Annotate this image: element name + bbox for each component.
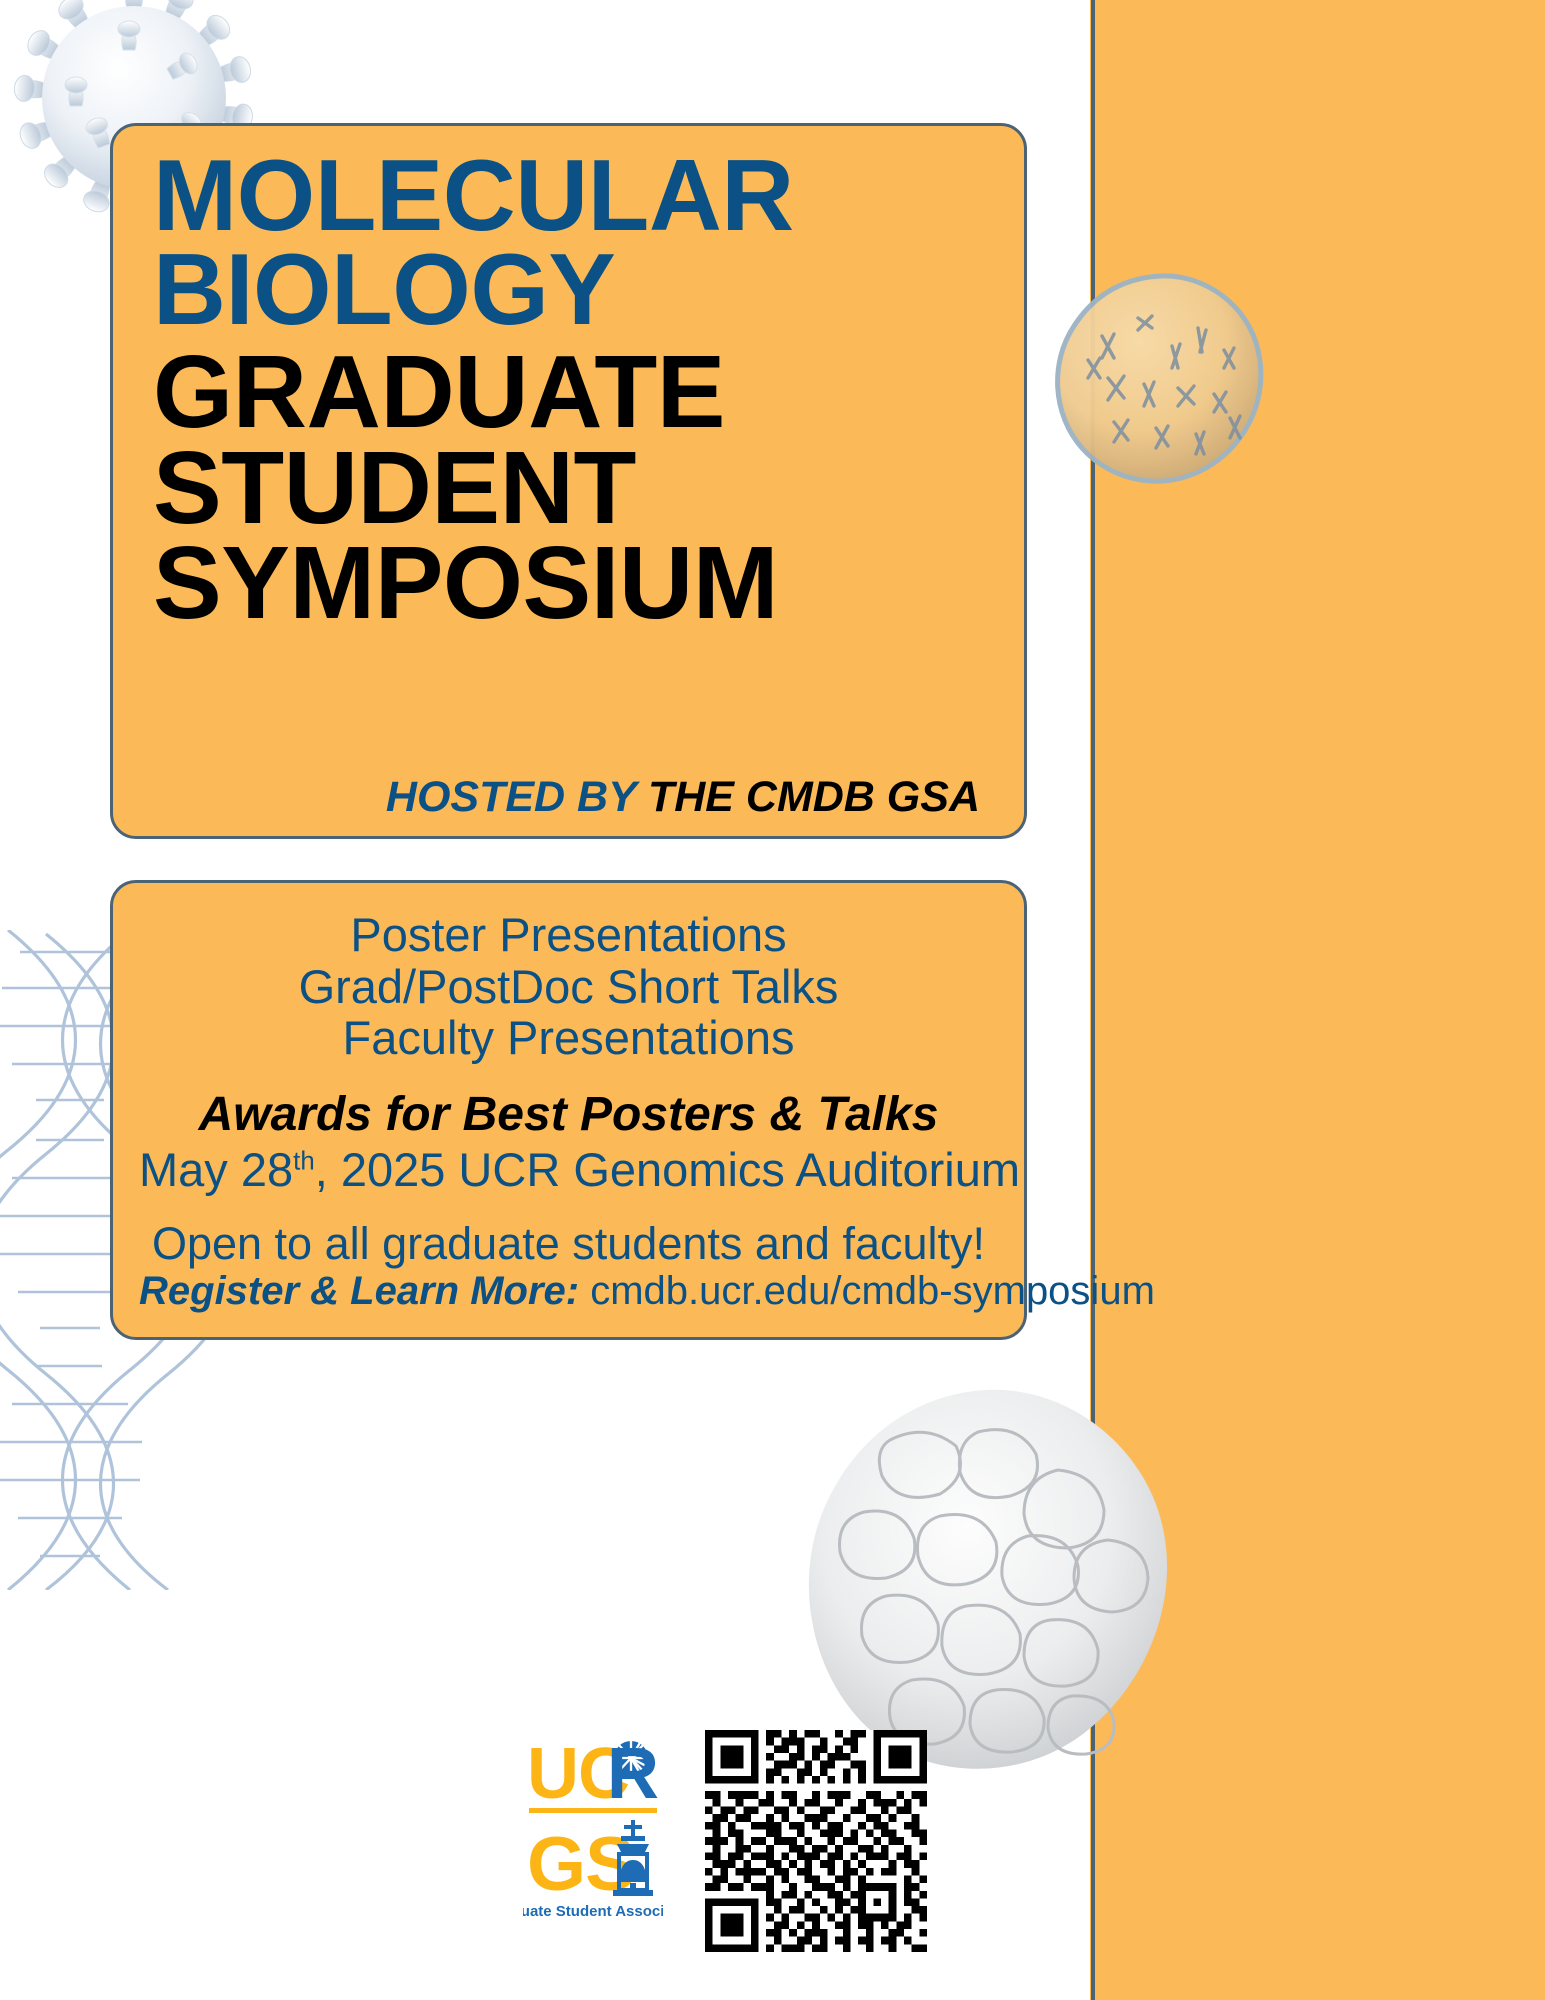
ucr-logo-r-text: R: [607, 1734, 659, 1814]
open-to-line: Open to all graduate students and facult…: [139, 1219, 998, 1269]
details-content: Poster Presentations Grad/PostDoc Short …: [139, 909, 998, 1317]
title-line-5: SYMPOSIUM: [153, 535, 998, 631]
ucr-gsa-tagline: Graduate Student Association: [523, 1903, 663, 1920]
spacer-1: [139, 1064, 998, 1086]
date-venue-line: May 28th, 2025 UCR Genomics Auditorium: [139, 1144, 998, 1196]
title-line-3: GRADUATE: [153, 344, 998, 440]
date-ordinal: th: [293, 1147, 315, 1175]
date-rest: , 2025 UCR Genomics Auditorium: [315, 1143, 1020, 1196]
hosted-by-line: HOSTED BY THE CMDB GSA: [386, 773, 980, 822]
details-card: Poster Presentations Grad/PostDoc Short …: [110, 880, 1027, 1340]
stripe-divider-line: [1091, 0, 1095, 2000]
ucr-gsa-logo: UC R: [523, 1732, 663, 1944]
ucr-logo-divider: [529, 1808, 657, 1813]
poster-canvas: MOLECULAR BIOLOGY GRADUATE STUDENT SYMPO…: [0, 0, 1545, 2000]
register-line: Register & Learn More: cmdb.ucr.edu/cmdb…: [139, 1269, 998, 1313]
hosted-by-label: HOSTED BY: [386, 773, 636, 821]
register-url[interactable]: cmdb.ucr.edu/cmdb-symposium: [590, 1269, 1155, 1313]
title-line-4: STUDENT: [153, 440, 998, 536]
program-item-faculty: Faculty Presentations: [139, 1012, 998, 1064]
hosted-by-org: THE CMDB GSA: [648, 773, 980, 821]
spacer-2: [139, 1195, 998, 1219]
right-gold-stripe: [1090, 0, 1545, 2000]
program-item-short-talks: Grad/PostDoc Short Talks: [139, 961, 998, 1013]
poster-title: MOLECULAR BIOLOGY GRADUATE STUDENT SYMPO…: [153, 150, 998, 631]
awards-line: Awards for Best Posters & Talks: [139, 1086, 998, 1144]
register-label: Register & Learn More:: [139, 1269, 579, 1313]
date-month-day: May 28: [139, 1143, 293, 1196]
title-line-1: MOLECULAR: [153, 150, 998, 244]
logo-row: UC R: [0, 1718, 1091, 1958]
program-item-posters: Poster Presentations: [139, 909, 998, 961]
title-line-2: BIOLOGY: [153, 244, 998, 338]
title-card: MOLECULAR BIOLOGY GRADUATE STUDENT SYMPO…: [110, 123, 1027, 839]
qr-code-icon[interactable]: [705, 1730, 927, 1952]
